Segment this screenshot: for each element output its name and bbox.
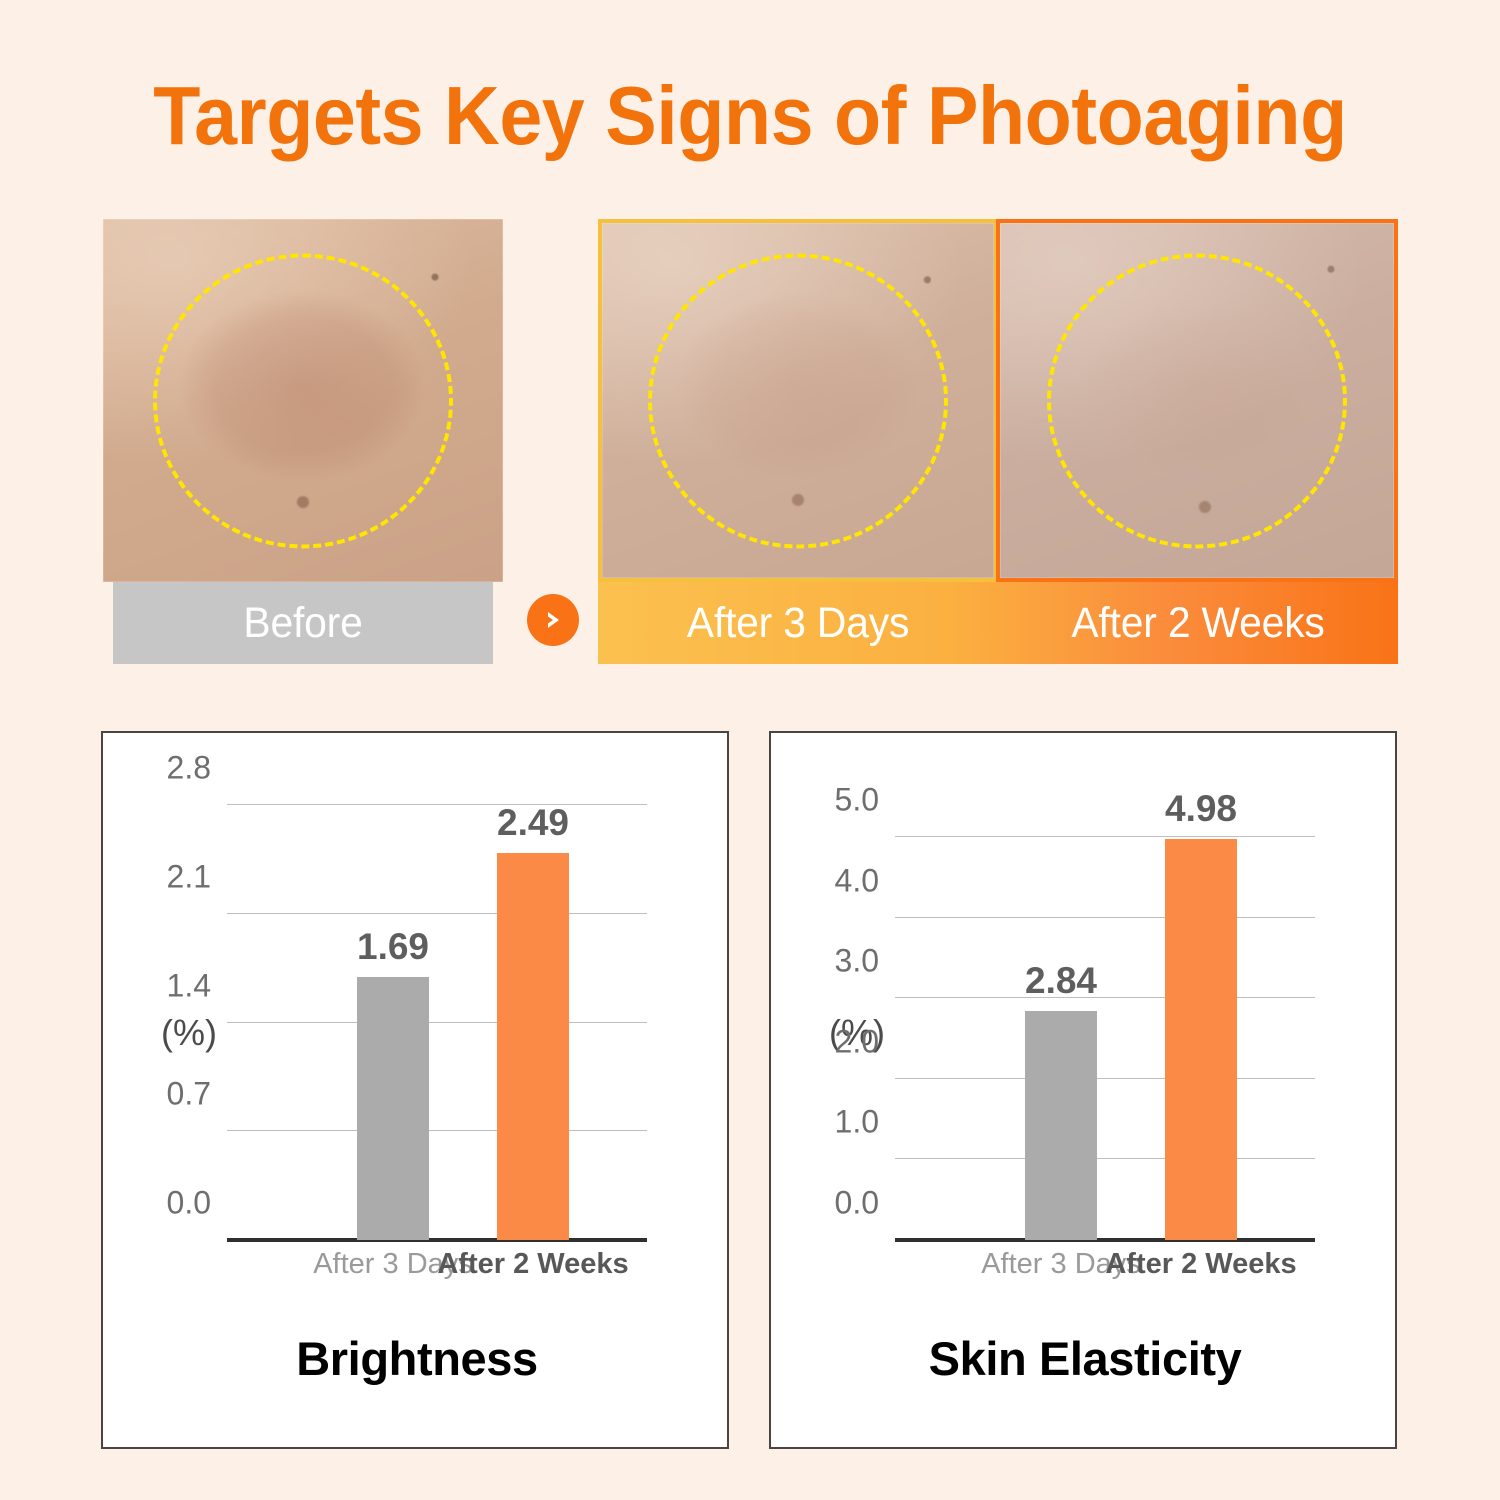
x-label-after-2-weeks: After 2 Weeks — [1105, 1248, 1296, 1281]
gridline — [895, 1158, 1315, 1159]
gridline — [895, 1078, 1315, 1079]
gridline — [227, 913, 647, 914]
bar-after-3-days: 2.84 — [1025, 1011, 1097, 1240]
chart-card-skin-elasticity: (%) 5.0 4.0 3.0 2.0 1.0 0.0 2.84 — [769, 731, 1397, 1449]
photo-before — [103, 219, 503, 582]
gridline — [895, 836, 1315, 837]
gridline — [895, 997, 1315, 998]
chevron-right-icon — [527, 594, 579, 646]
chart-title-skin-elasticity: Skin Elasticity — [771, 1331, 1399, 1386]
plot-area-brightness: (%) 2.8 2.1 1.4 0.7 0.0 1.69 2.49 — [103, 733, 731, 1293]
y-tick-label: 3.0 — [835, 943, 879, 980]
y-tick-label: 2.8 — [167, 750, 211, 787]
photo-after-2-weeks — [996, 219, 1398, 582]
page-title: Targets Key Signs of Photoaging — [53, 68, 1448, 164]
gridline — [227, 1130, 647, 1131]
before-after-photo-row: Before After 3 Days After 2 Weeks — [0, 219, 1500, 664]
bar-value-label: 4.98 — [1165, 788, 1237, 830]
photo-caption-after-2-weeks: After 2 Weeks — [1008, 582, 1388, 664]
infographic-page: Targets Key Signs of Photoaging Before — [0, 0, 1500, 1500]
y-tick-label: 0.0 — [167, 1185, 211, 1222]
after-caption-gradient-bar: After 3 Days After 2 Weeks — [598, 582, 1398, 664]
gridline — [227, 1022, 647, 1023]
bar-value-label: 1.69 — [357, 926, 429, 968]
plot-area-skin-elasticity: (%) 5.0 4.0 3.0 2.0 1.0 0.0 2.84 — [771, 733, 1399, 1293]
x-axis-labels-skin-elasticity: After 3 Days After 2 Weeks — [895, 1248, 1315, 1296]
y-tick-label: 4.0 — [835, 862, 879, 899]
y-tick-label: 5.0 — [835, 782, 879, 819]
chart-card-brightness: (%) 2.8 2.1 1.4 0.7 0.0 1.69 2.49 — [101, 731, 729, 1449]
x-label-after-2-weeks: After 2 Weeks — [437, 1248, 628, 1281]
photo-caption-before: Before — [113, 582, 493, 664]
axis-area-brightness: 2.8 2.1 1.4 0.7 0.0 1.69 2.49 — [227, 805, 647, 1240]
y-tick-label: 0.0 — [835, 1185, 879, 1222]
y-tick-label: 2.0 — [835, 1023, 879, 1060]
bar-after-2-weeks: 4.98 — [1165, 839, 1237, 1240]
skin-image-after-3-days — [602, 223, 994, 578]
skin-image-before — [103, 219, 503, 582]
x-axis-baseline — [895, 1238, 1315, 1242]
y-axis-unit-label: (%) — [161, 1012, 217, 1054]
bar-value-label: 2.49 — [497, 802, 569, 844]
y-tick-label: 2.1 — [167, 858, 211, 895]
bar-after-3-days: 1.69 — [357, 977, 429, 1240]
bar-value-label: 2.84 — [1025, 960, 1097, 1002]
chart-title-brightness: Brightness — [103, 1331, 731, 1386]
axis-area-skin-elasticity: 5.0 4.0 3.0 2.0 1.0 0.0 2.84 4.98 — [895, 805, 1315, 1240]
photo-after-3-days — [598, 219, 998, 582]
y-tick-label: 1.0 — [835, 1104, 879, 1141]
bar-after-2-weeks: 2.49 — [497, 853, 569, 1240]
photo-caption-after-3-days: After 3 Days — [608, 582, 988, 664]
photo-panel-before: Before — [103, 219, 503, 664]
gridline — [895, 917, 1315, 918]
y-tick-label: 1.4 — [167, 967, 211, 1004]
gridline — [227, 804, 647, 805]
x-axis-baseline — [227, 1238, 647, 1242]
y-tick-label: 0.7 — [167, 1076, 211, 1113]
skin-image-after-2-weeks — [1000, 223, 1394, 578]
x-axis-labels-brightness: After 3 Days After 2 Weeks — [227, 1248, 647, 1296]
